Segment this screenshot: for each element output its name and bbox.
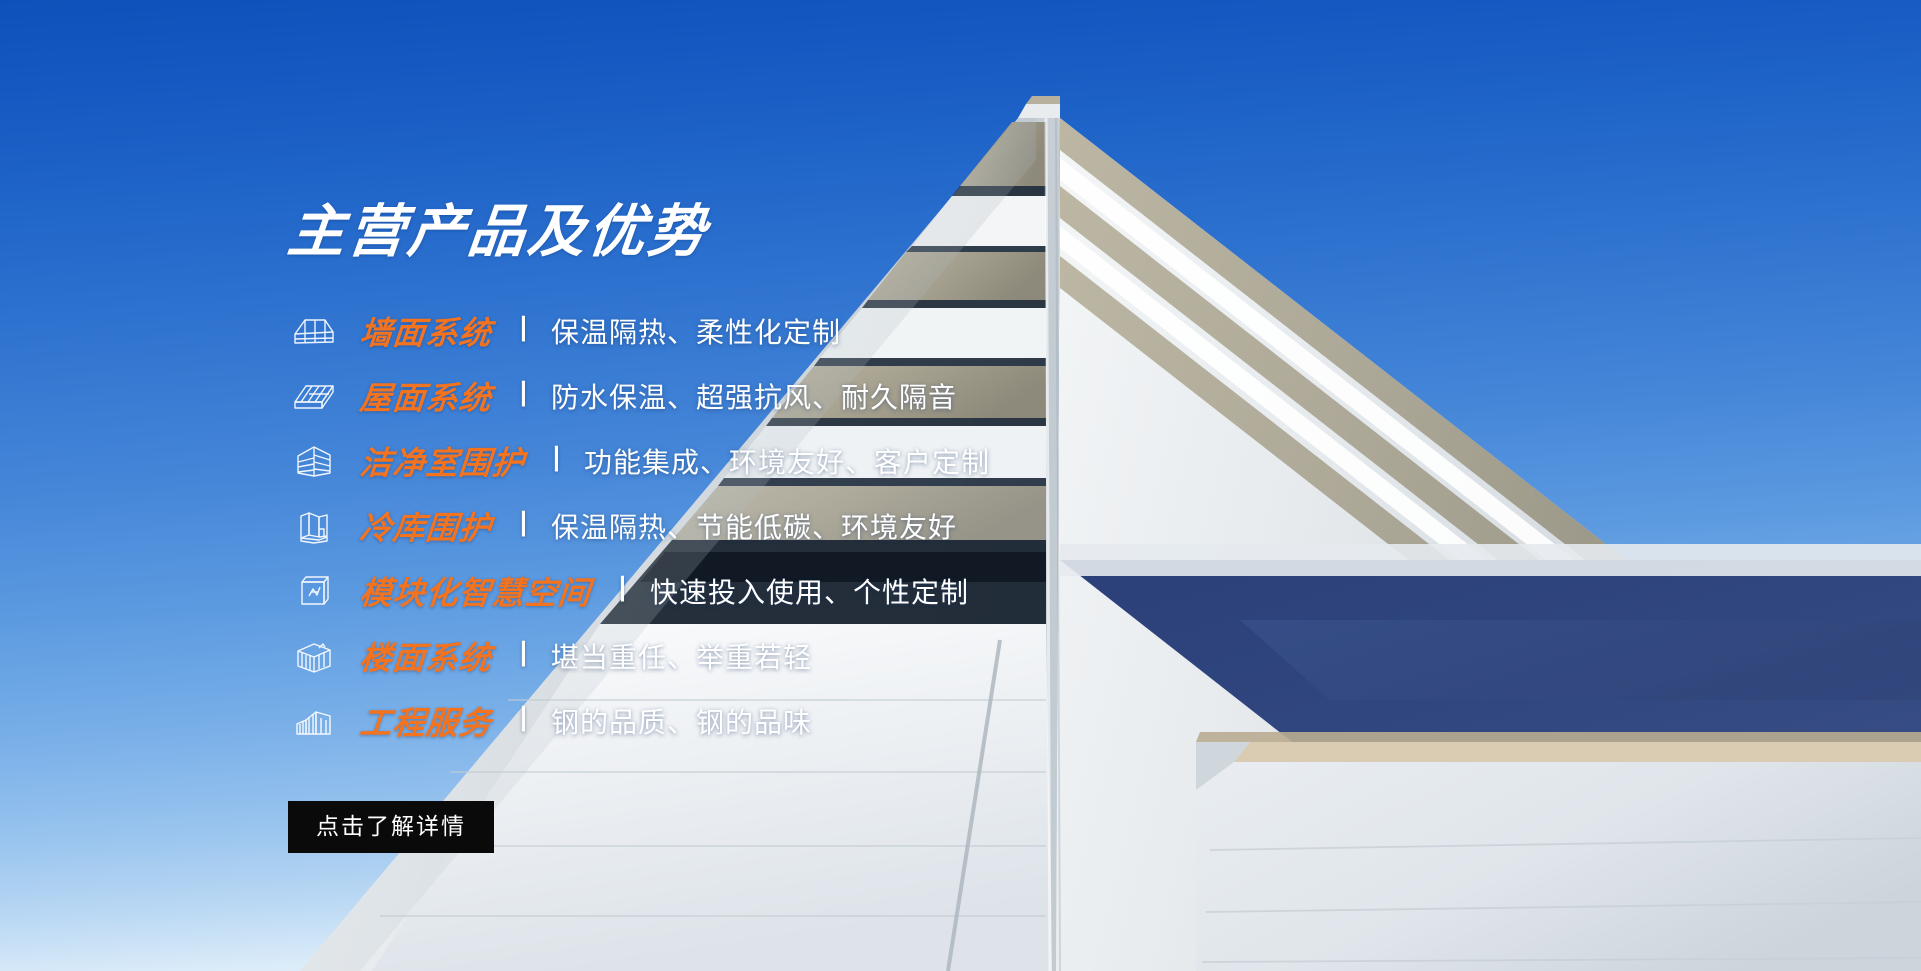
floor-deck-box-icon bbox=[288, 634, 340, 678]
separator-icon: 丨 bbox=[609, 577, 636, 604]
list-item[interactable]: 模块化智慧空间 丨 快速投入使用、个性定制 bbox=[288, 558, 1338, 623]
banner-content: 主营产品及优势 墙面系统 丨 保温隔热、柔性化定制 bbox=[0, 0, 1921, 971]
wall-panel-icon bbox=[288, 309, 340, 353]
product-desc: 防水保温、超强抗风、耐久隔音 bbox=[551, 376, 957, 416]
engineering-service-icon bbox=[288, 699, 340, 743]
product-desc: 堪当重任、举重若轻 bbox=[551, 636, 812, 676]
product-desc: 保温隔热、柔性化定制 bbox=[551, 311, 841, 351]
list-item[interactable]: 屋面系统 丨 防水保温、超强抗风、耐久隔音 bbox=[288, 363, 1338, 428]
product-desc: 快速投入使用、个性定制 bbox=[650, 571, 969, 611]
product-title: 楼面系统 bbox=[358, 633, 494, 679]
list-item[interactable]: 楼面系统 丨 堪当重任、举重若轻 bbox=[288, 623, 1338, 688]
product-desc: 保温隔热、节能低碳、环境友好 bbox=[551, 506, 957, 546]
product-title: 冷库围护 bbox=[358, 503, 494, 549]
hero-banner: 主营产品及优势 墙面系统 丨 保温隔热、柔性化定制 bbox=[0, 0, 1921, 971]
cold-storage-icon bbox=[288, 504, 340, 548]
separator-icon: 丨 bbox=[510, 642, 537, 669]
learn-more-button[interactable]: 点击了解详情 bbox=[288, 801, 494, 853]
product-title: 屋面系统 bbox=[358, 373, 494, 419]
separator-icon: 丨 bbox=[543, 447, 570, 474]
product-desc: 功能集成、环境友好、客户定制 bbox=[584, 441, 990, 481]
roof-panel-icon bbox=[288, 374, 340, 418]
product-title: 洁净室围护 bbox=[358, 438, 527, 484]
separator-icon: 丨 bbox=[510, 382, 537, 409]
cleanroom-building-icon bbox=[288, 439, 340, 483]
cold-storage-row[interactable]: 冷库围护 丨 保温隔热、节能低碳、环境友好 bbox=[288, 493, 1338, 558]
product-list: 墙面系统 丨 保温隔热、柔性化定制 屋面系统 bbox=[288, 298, 1338, 753]
product-desc: 钢的品质、钢的品味 bbox=[551, 701, 812, 741]
list-item[interactable]: 工程服务 丨 钢的品质、钢的品味 bbox=[288, 688, 1338, 753]
separator-icon: 丨 bbox=[510, 317, 537, 344]
list-item[interactable]: 洁净室围护 丨 功能集成、环境友好、客户定制 bbox=[288, 428, 1338, 493]
modular-space-cube-icon bbox=[288, 569, 340, 613]
list-item[interactable]: 墙面系统 丨 保温隔热、柔性化定制 bbox=[288, 298, 1338, 363]
separator-icon: 丨 bbox=[510, 707, 537, 734]
page-title: 主营产品及优势 bbox=[285, 204, 711, 261]
product-title: 模块化智慧空间 bbox=[358, 568, 593, 614]
separator-icon: 丨 bbox=[510, 512, 537, 539]
product-title: 工程服务 bbox=[358, 698, 494, 744]
product-title: 墙面系统 bbox=[358, 308, 494, 354]
